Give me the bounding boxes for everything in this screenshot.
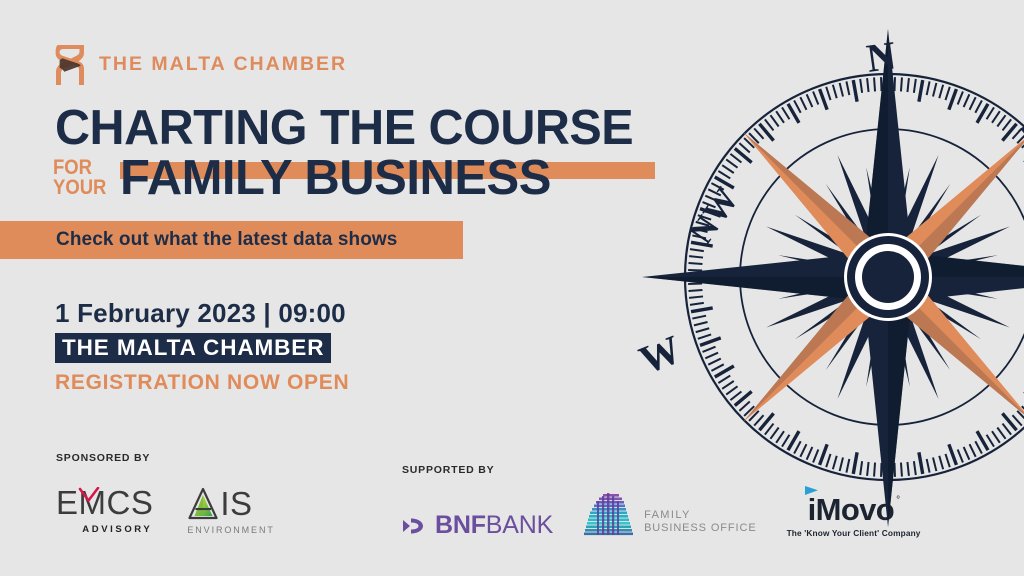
compass-major-points-orange bbox=[743, 132, 1024, 422]
headline-prefix: FOR YOUR bbox=[53, 158, 106, 198]
headline-line-2: FAMILY BUSINESS bbox=[120, 154, 551, 203]
ais-triangle-icon bbox=[187, 486, 219, 520]
emcs-check-icon bbox=[78, 487, 100, 503]
headline-prefix-for: FOR bbox=[53, 158, 106, 178]
sponsored-by-label: SPONSORED BY bbox=[56, 452, 275, 464]
fbo-line-2: BUSINESS OFFICE bbox=[644, 522, 757, 534]
compass-outer-circle bbox=[685, 74, 1024, 480]
sponsor-logo-list: E M CS ADVISORY bbox=[56, 486, 275, 535]
bnf-name-light: BANK bbox=[486, 511, 553, 539]
supporter-logo-bnf-bank: BNFBANK bbox=[402, 513, 553, 538]
emcs-wordmark: E M CS bbox=[56, 486, 153, 519]
fbo-stack-icon bbox=[583, 492, 635, 538]
malta-chamber-mark-icon bbox=[55, 44, 85, 86]
fbo-wordmark: FAMILY BUSINESS OFFICE bbox=[644, 509, 757, 538]
imovo-name-rest: Movo bbox=[816, 494, 895, 525]
imovo-i-glyph: i bbox=[808, 492, 816, 527]
emcs-tagline: ADVISORY bbox=[56, 524, 152, 535]
supporter-logo-list: BNFBANK bbox=[402, 492, 921, 538]
malta-chamber-wordmark: THE MALTA CHAMBER bbox=[99, 55, 347, 75]
event-venue: THE MALTA CHAMBER bbox=[55, 333, 331, 364]
sponsored-by-section: SPONSORED BY E M CS ADVISORY bbox=[56, 452, 275, 535]
compass-inner-circle bbox=[740, 129, 1024, 425]
supported-by-label: SUPPORTED BY bbox=[402, 464, 921, 476]
imovo-letter-i: i bbox=[808, 494, 816, 525]
registration-cta[interactable]: REGISTRATION NOW OPEN bbox=[55, 371, 475, 395]
compass-hub bbox=[844, 233, 932, 321]
imovo-tagline: The 'Know Your Client' Company bbox=[787, 528, 921, 538]
bnf-name-bold: BNF bbox=[435, 511, 486, 539]
sponsor-logo-emcs: E M CS ADVISORY bbox=[56, 486, 153, 535]
compass-label-ne: NE bbox=[1014, 97, 1024, 155]
malta-chamber-logo: THE MALTA CHAMBER bbox=[55, 44, 347, 86]
subtitle-text: Check out what the latest data shows bbox=[56, 229, 397, 251]
ais-letters-is: IS bbox=[220, 487, 252, 520]
imovo-play-icon bbox=[804, 485, 820, 497]
emcs-letters-cs: CS bbox=[107, 486, 154, 519]
emcs-letter-m: M bbox=[79, 486, 107, 519]
ais-tagline: ENVIRONMENT bbox=[187, 525, 274, 535]
event-details: 1 February 2023 | 09:00 THE MALTA CHAMBE… bbox=[55, 298, 475, 395]
bnf-arrows-icon bbox=[402, 515, 428, 537]
event-banner: THE MALTA CHAMBER CHARTING THE COURSE FO… bbox=[0, 0, 1024, 576]
supported-by-section: SUPPORTED BY BNFBANK bbox=[402, 464, 921, 538]
compass-minor-spikes bbox=[766, 155, 1010, 399]
headline-line-1: CHARTING THE COURSE bbox=[55, 104, 633, 153]
compass-rose-icon: N NE NW W S bbox=[633, 22, 1024, 532]
headline-prefix-your: YOUR bbox=[53, 178, 106, 198]
fbo-line-1: FAMILY bbox=[644, 509, 757, 521]
compass-tick-ring bbox=[688, 77, 1024, 477]
compass-label-w: W bbox=[633, 326, 687, 383]
bnf-wordmark: BNFBANK bbox=[435, 513, 553, 538]
imovo-registered-mark: ° bbox=[896, 496, 899, 506]
compass-label-n: N bbox=[864, 32, 899, 81]
subtitle-strip: Check out what the latest data shows bbox=[0, 221, 463, 259]
sponsor-logo-ais: IS ENVIRONMENT bbox=[187, 486, 274, 535]
supporter-logo-family-business-office: FAMILY BUSINESS OFFICE bbox=[583, 492, 757, 538]
supporter-logo-imovo: i Movo ° The 'Know Your Client' Company bbox=[787, 494, 921, 538]
ais-wordmark: IS bbox=[187, 486, 274, 520]
emcs-letter-e: E bbox=[56, 486, 79, 519]
compass-rose-graphic: N NE NW W S bbox=[633, 22, 1024, 532]
headline-block: CHARTING THE COURSE FOR YOUR FAMILY BUSI… bbox=[0, 104, 700, 214]
event-datetime: 1 February 2023 | 09:00 bbox=[55, 298, 475, 329]
imovo-wordmark: i Movo ° bbox=[787, 494, 921, 525]
